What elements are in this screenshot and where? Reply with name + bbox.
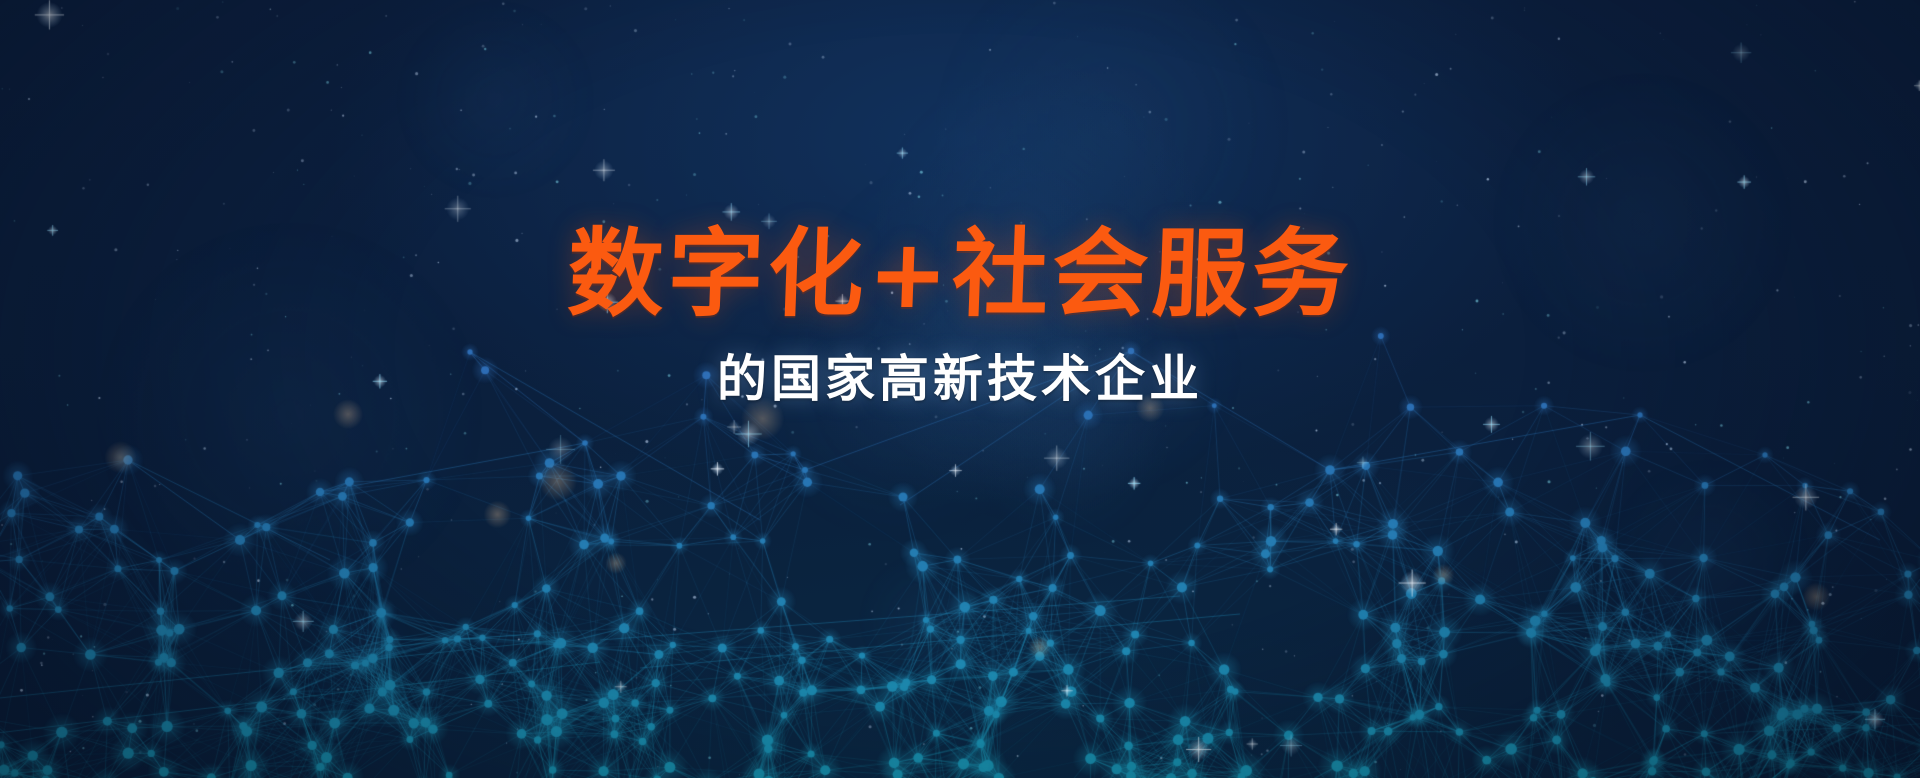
hero-subtitle: 的国家高新技术企业 [0, 339, 1920, 411]
hero-headline: 数字化+社会服务 [0, 224, 1920, 325]
hero-banner: 数字化+社会服务 的国家高新技术企业 [0, 0, 1920, 778]
hero-text-block: 数字化+社会服务 的国家高新技术企业 [0, 224, 1920, 411]
